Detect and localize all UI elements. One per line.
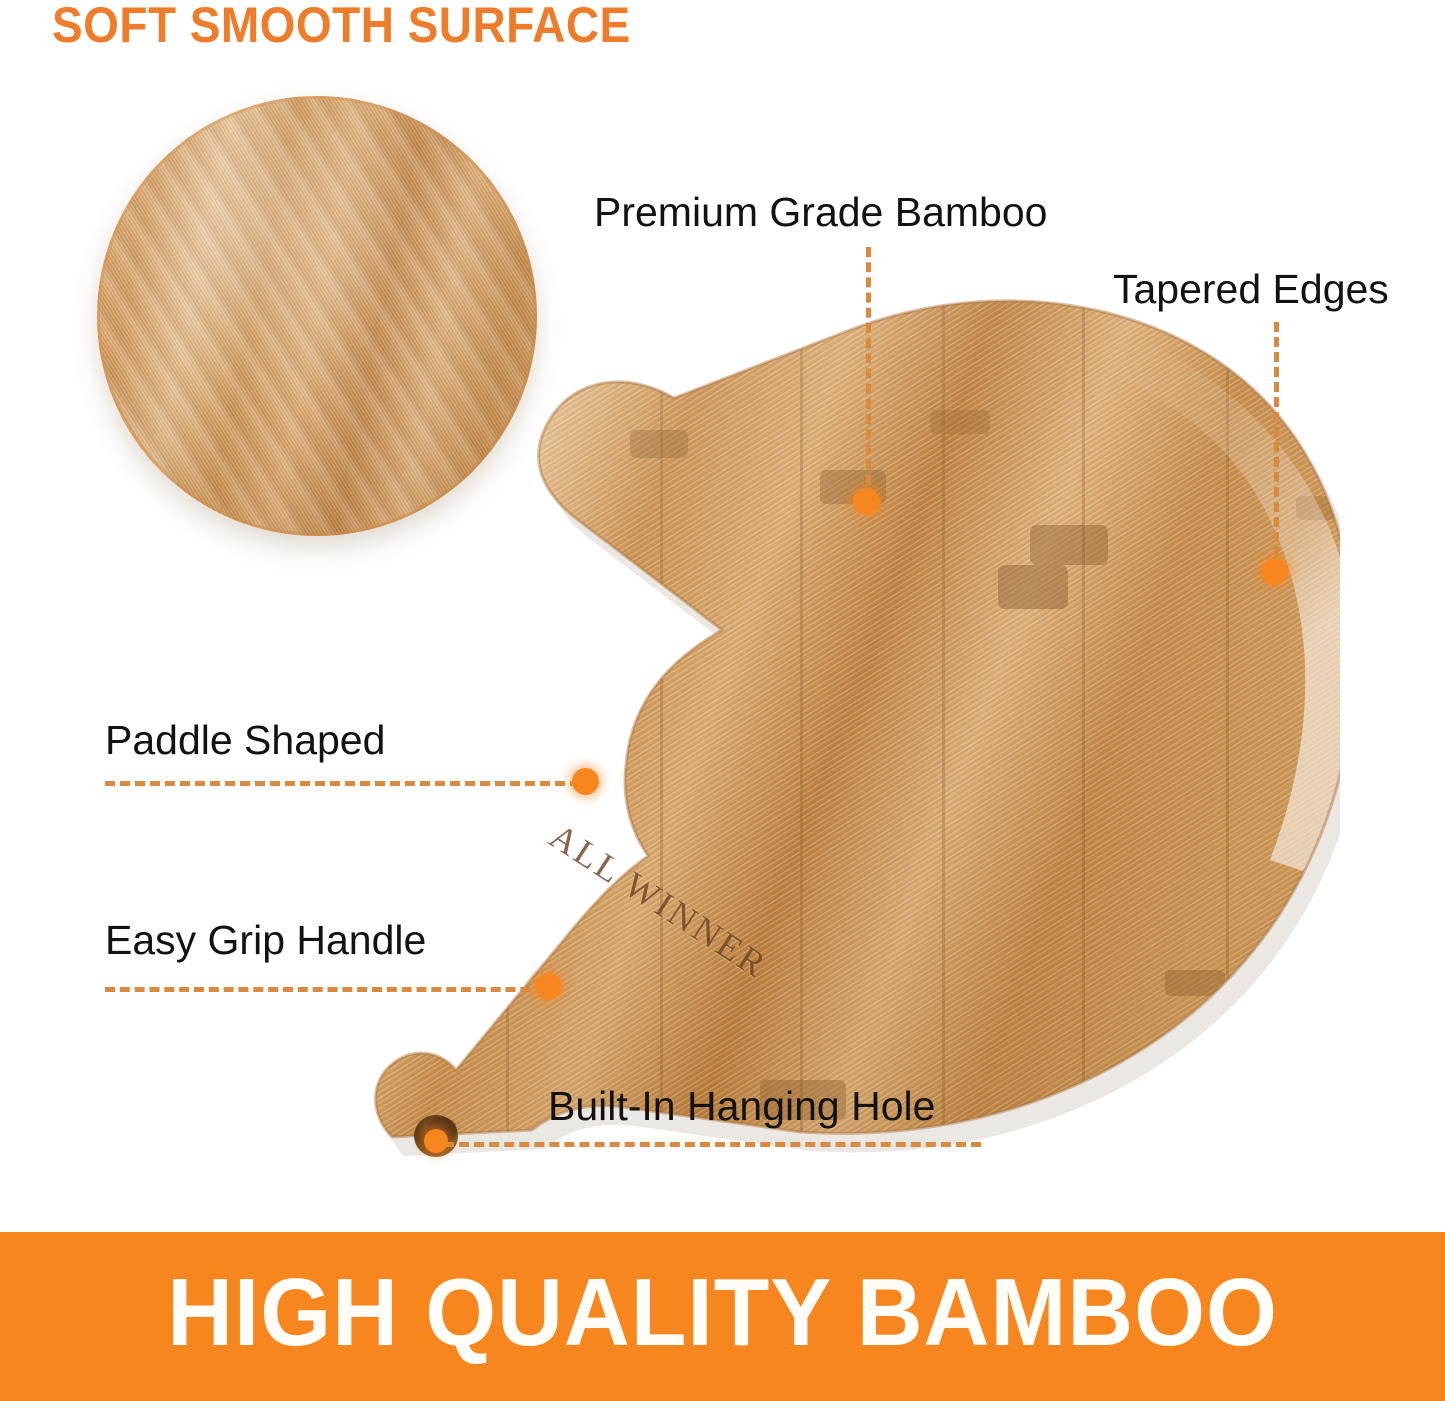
callout-label-paddle-shaped: Paddle Shaped xyxy=(105,717,385,764)
connector-built-in-hanging-hole xyxy=(444,1142,981,1147)
connector-paddle-shaped xyxy=(105,781,595,786)
page-title: SOFT SMOOTH SURFACE xyxy=(52,0,631,54)
callout-label-tapered-edges: Tapered Edges xyxy=(1113,266,1389,313)
connector-easy-grip-handle xyxy=(105,987,560,992)
callout-label-easy-grip-handle: Easy Grip Handle xyxy=(105,917,426,964)
bottom-banner-text: HIGH QUALITY BAMBOO xyxy=(36,1258,1409,1368)
connector-premium-grade-bamboo xyxy=(866,247,871,500)
marker-dot-built-in-hanging-hole xyxy=(424,1129,448,1153)
marker-dot-paddle-shaped xyxy=(572,768,599,795)
callout-label-built-in-hanging-hole: Built-In Hanging Hole xyxy=(548,1083,935,1130)
marker-dot-easy-grip-handle xyxy=(535,973,562,1000)
product-infographic: SOFT SMOOTH SURFACE xyxy=(0,0,1445,1401)
connector-tapered-edges xyxy=(1274,322,1279,572)
marker-dot-premium-grade-bamboo xyxy=(853,488,880,515)
bottom-banner: HIGH QUALITY BAMBOO xyxy=(0,1232,1445,1401)
marker-dot-tapered-edges xyxy=(1261,558,1288,585)
callout-label-premium-grade-bamboo: Premium Grade Bamboo xyxy=(594,189,1047,236)
